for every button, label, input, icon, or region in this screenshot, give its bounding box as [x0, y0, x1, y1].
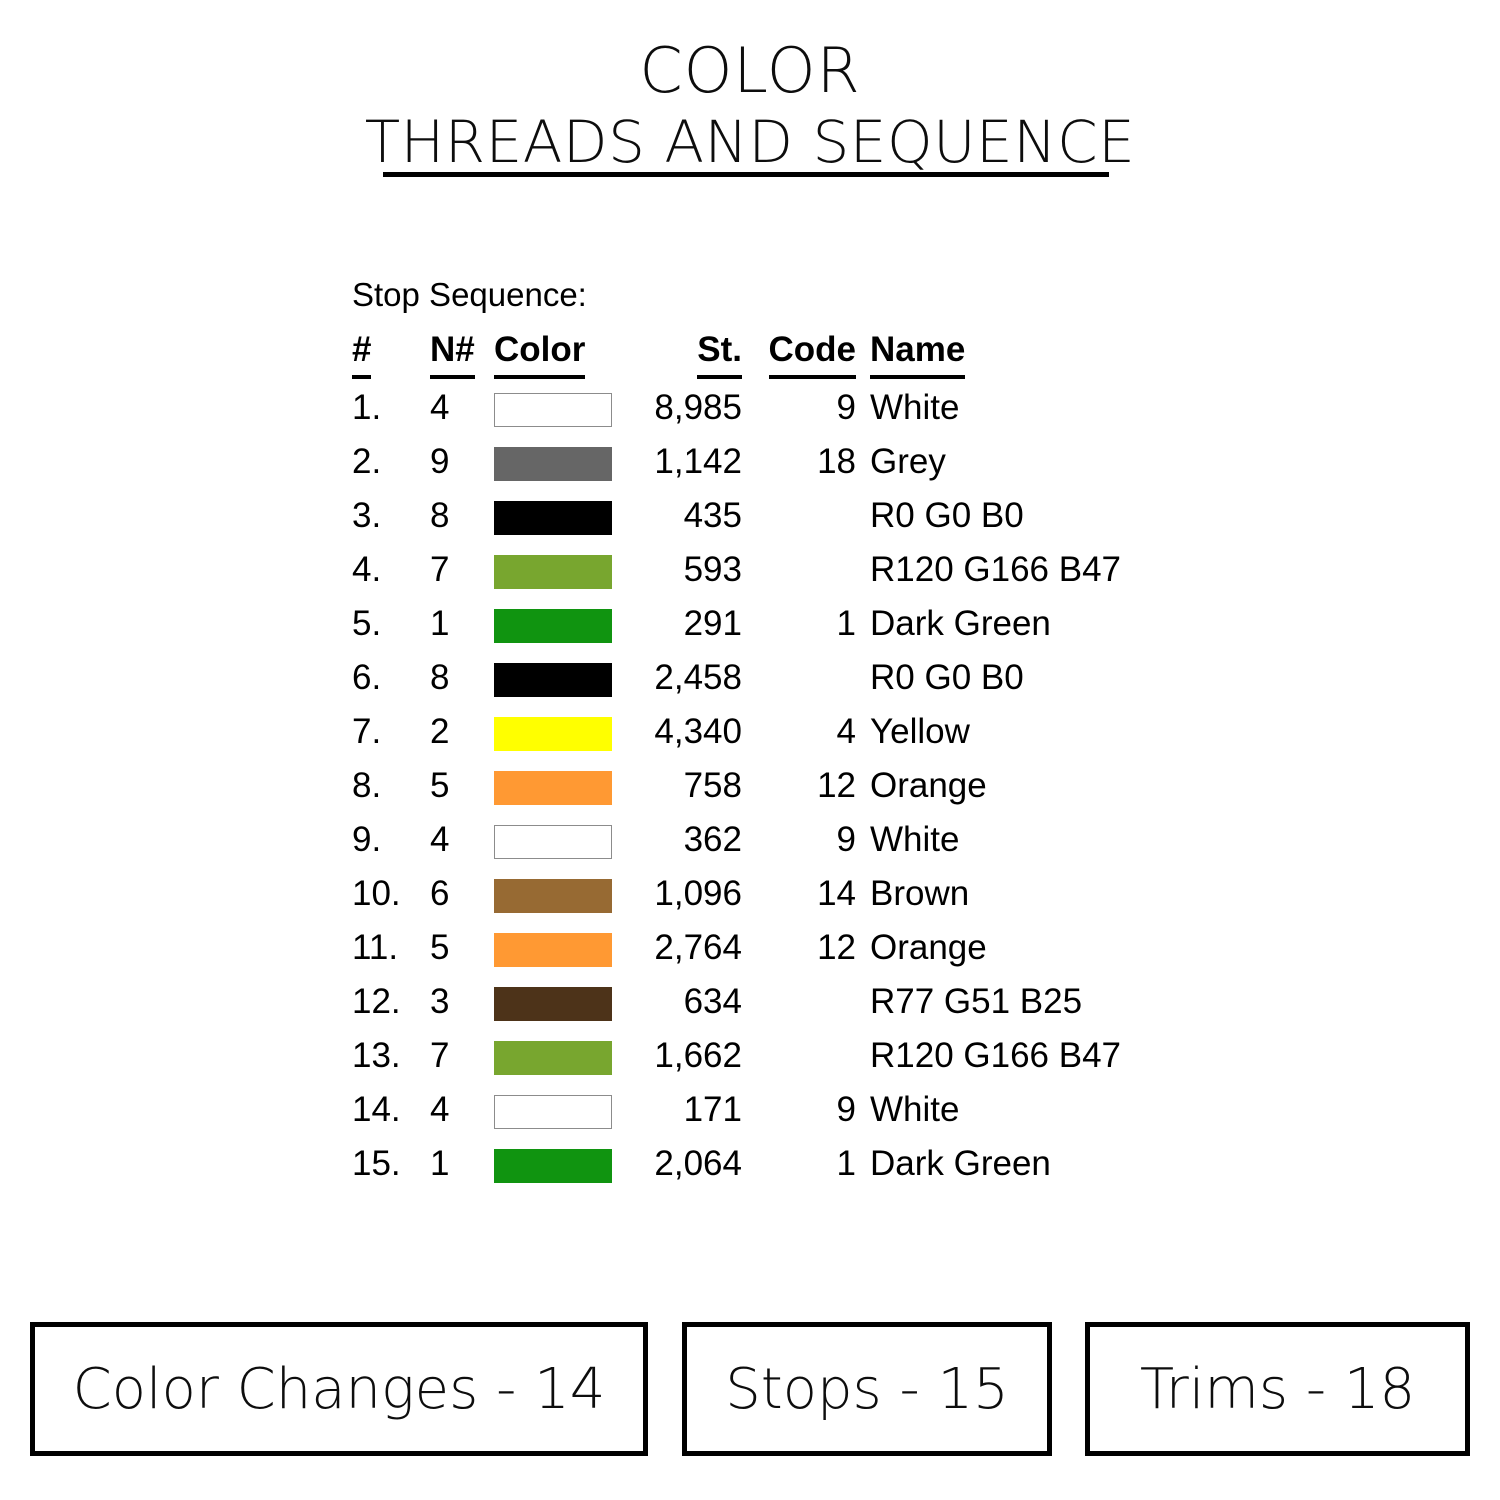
cell-needle-number: 6 [426, 867, 494, 921]
table-row: 3.8435R0 G0 B0 [352, 489, 1121, 543]
cell-thread-code [744, 1029, 870, 1083]
stop-sequence-section: Stop Sequence: # N# Color St. Code Name … [352, 272, 1121, 1191]
cell-needle-number: 9 [426, 435, 494, 489]
column-header-code: Code [744, 326, 870, 381]
cell-stitch-count: 362 [620, 813, 744, 867]
cell-stitch-count: 291 [620, 597, 744, 651]
cell-index: 8. [352, 759, 426, 813]
cell-color [494, 597, 620, 651]
title-underline-rule [383, 172, 1109, 177]
color-swatch [494, 825, 612, 859]
table-row: 6.82,458R0 G0 B0 [352, 651, 1121, 705]
stop-sequence-table: # N# Color St. Code Name 1.48,9859White2… [352, 326, 1121, 1191]
cell-color [494, 705, 620, 759]
cell-thread-code [744, 489, 870, 543]
cell-stitch-count: 634 [620, 975, 744, 1029]
color-swatch [494, 663, 612, 697]
cell-thread-name: Grey [870, 435, 1121, 489]
cell-thread-code: 1 [744, 1137, 870, 1191]
cell-thread-code: 1 [744, 597, 870, 651]
cell-thread-name: R0 G0 B0 [870, 489, 1121, 543]
color-swatch [494, 609, 612, 643]
cell-index: 10. [352, 867, 426, 921]
table-row: 9.43629White [352, 813, 1121, 867]
cell-color [494, 813, 620, 867]
table-row: 10.61,09614Brown [352, 867, 1121, 921]
cell-needle-number: 8 [426, 651, 494, 705]
cell-stitch-count: 435 [620, 489, 744, 543]
cell-thread-name: R77 G51 B25 [870, 975, 1121, 1029]
table-row: 7.24,3404Yellow [352, 705, 1121, 759]
cell-thread-name: Dark Green [870, 597, 1121, 651]
cell-stitch-count: 1,142 [620, 435, 744, 489]
cell-needle-number: 8 [426, 489, 494, 543]
cell-needle-number: 4 [426, 1083, 494, 1137]
cell-index: 13. [352, 1029, 426, 1083]
summary-boxes: Color Changes - 14 Stops - 15 Trims - 18 [30, 1322, 1470, 1456]
color-swatch [494, 501, 612, 535]
table-row: 8.575812Orange [352, 759, 1121, 813]
cell-thread-code: 14 [744, 867, 870, 921]
cell-stitch-count: 2,064 [620, 1137, 744, 1191]
cell-needle-number: 2 [426, 705, 494, 759]
cell-index: 1. [352, 381, 426, 435]
table-row: 11.52,76412Orange [352, 921, 1121, 975]
cell-index: 4. [352, 543, 426, 597]
cell-needle-number: 4 [426, 813, 494, 867]
cell-stitch-count: 758 [620, 759, 744, 813]
cell-thread-code: 4 [744, 705, 870, 759]
cell-color [494, 381, 620, 435]
cell-stitch-count: 1,662 [620, 1029, 744, 1083]
cell-needle-number: 3 [426, 975, 494, 1029]
color-swatch [494, 1041, 612, 1075]
cell-color [494, 759, 620, 813]
cell-index: 15. [352, 1137, 426, 1191]
color-swatch [494, 1095, 612, 1129]
table-row: 4.7593R120 G166 B47 [352, 543, 1121, 597]
cell-needle-number: 1 [426, 597, 494, 651]
cell-stitch-count: 2,458 [620, 651, 744, 705]
cell-stitch-count: 593 [620, 543, 744, 597]
color-swatch [494, 1149, 612, 1183]
cell-thread-code: 18 [744, 435, 870, 489]
cell-stitch-count: 2,764 [620, 921, 744, 975]
cell-index: 14. [352, 1083, 426, 1137]
color-swatch [494, 393, 612, 427]
cell-thread-code: 9 [744, 1083, 870, 1137]
cell-thread-name: White [870, 813, 1121, 867]
cell-thread-name: Yellow [870, 705, 1121, 759]
stops-box: Stops - 15 [682, 1322, 1052, 1456]
cell-thread-code: 9 [744, 813, 870, 867]
stop-sequence-caption: Stop Sequence: [352, 272, 1121, 318]
column-header-stitches: St. [620, 326, 744, 381]
cell-color [494, 867, 620, 921]
color-swatch [494, 771, 612, 805]
table-row: 15.12,0641Dark Green [352, 1137, 1121, 1191]
cell-color [494, 1137, 620, 1191]
column-header-needle: N# [426, 326, 494, 381]
cell-color [494, 1029, 620, 1083]
cell-color [494, 435, 620, 489]
title-subtitle: THREADS AND SEQUENCE [0, 108, 1500, 176]
cell-thread-name: R120 G166 B47 [870, 543, 1121, 597]
color-changes-box: Color Changes - 14 [30, 1322, 648, 1456]
column-header-index: # [352, 326, 426, 381]
cell-needle-number: 1 [426, 1137, 494, 1191]
color-swatch [494, 555, 612, 589]
cell-color [494, 921, 620, 975]
cell-thread-code [744, 975, 870, 1029]
cell-index: 11. [352, 921, 426, 975]
cell-thread-code: 9 [744, 381, 870, 435]
cell-color [494, 489, 620, 543]
cell-index: 12. [352, 975, 426, 1029]
cell-color [494, 651, 620, 705]
cell-thread-name: Orange [870, 921, 1121, 975]
cell-needle-number: 7 [426, 543, 494, 597]
cell-thread-name: R120 G166 B47 [870, 1029, 1121, 1083]
column-header-name: Name [870, 326, 1121, 381]
color-swatch [494, 987, 612, 1021]
page-title: COLOR THREADS AND SEQUENCE [0, 34, 1500, 176]
table-row: 14.41719White [352, 1083, 1121, 1137]
cell-color [494, 543, 620, 597]
cell-thread-code [744, 651, 870, 705]
table-row: 13.71,662R120 G166 B47 [352, 1029, 1121, 1083]
cell-thread-code: 12 [744, 921, 870, 975]
trims-box: Trims - 18 [1085, 1322, 1470, 1456]
color-swatch [494, 933, 612, 967]
column-header-color: Color [494, 326, 620, 381]
cell-thread-code [744, 543, 870, 597]
table-header-row: # N# Color St. Code Name [352, 326, 1121, 381]
cell-color [494, 1083, 620, 1137]
cell-thread-name: White [870, 381, 1121, 435]
cell-needle-number: 5 [426, 759, 494, 813]
color-swatch [494, 447, 612, 481]
cell-thread-code: 12 [744, 759, 870, 813]
table-row: 1.48,9859White [352, 381, 1121, 435]
cell-index: 6. [352, 651, 426, 705]
table-row: 2.91,14218Grey [352, 435, 1121, 489]
cell-needle-number: 7 [426, 1029, 494, 1083]
cell-stitch-count: 171 [620, 1083, 744, 1137]
color-swatch [494, 717, 612, 751]
cell-index: 7. [352, 705, 426, 759]
cell-stitch-count: 8,985 [620, 381, 744, 435]
cell-thread-name: R0 G0 B0 [870, 651, 1121, 705]
table-row: 12.3634R77 G51 B25 [352, 975, 1121, 1029]
cell-stitch-count: 4,340 [620, 705, 744, 759]
cell-index: 5. [352, 597, 426, 651]
cell-index: 2. [352, 435, 426, 489]
table-row: 5.12911Dark Green [352, 597, 1121, 651]
cell-stitch-count: 1,096 [620, 867, 744, 921]
color-swatch [494, 879, 612, 913]
title-main: COLOR [0, 34, 1500, 108]
cell-color [494, 975, 620, 1029]
cell-index: 3. [352, 489, 426, 543]
cell-thread-name: Brown [870, 867, 1121, 921]
cell-index: 9. [352, 813, 426, 867]
cell-thread-name: White [870, 1083, 1121, 1137]
cell-thread-name: Dark Green [870, 1137, 1121, 1191]
cell-needle-number: 5 [426, 921, 494, 975]
cell-needle-number: 4 [426, 381, 494, 435]
cell-thread-name: Orange [870, 759, 1121, 813]
